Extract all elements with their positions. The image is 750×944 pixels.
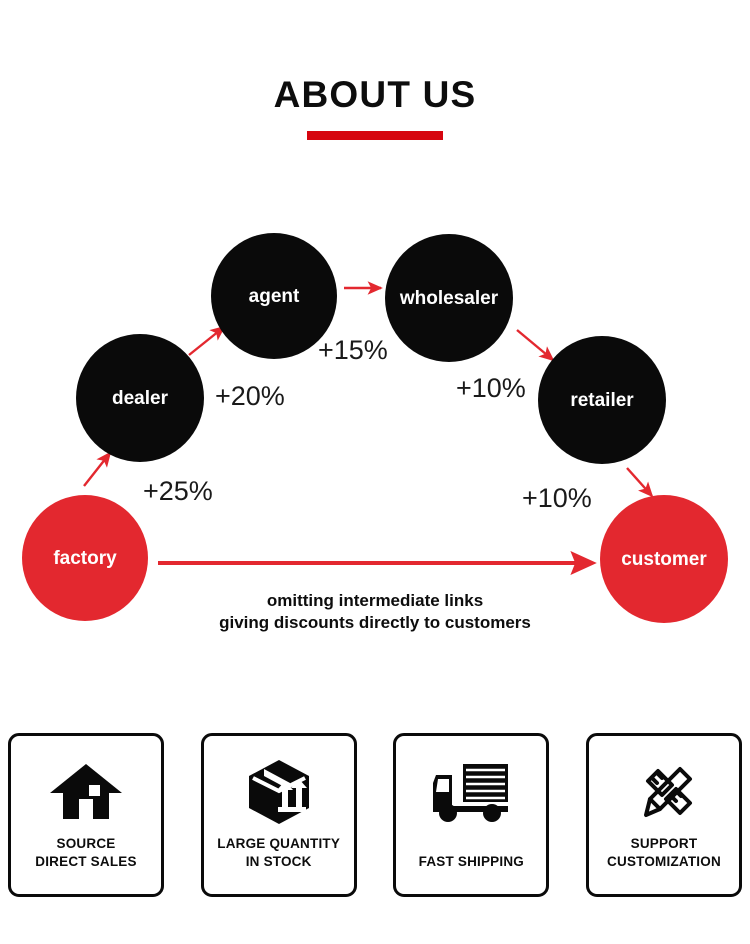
caption-line-2: giving discounts directly to customers (0, 612, 750, 634)
node-dealer-label: dealer (112, 389, 168, 408)
node-wholesaler-label: wholesaler (400, 289, 498, 308)
pencil-ruler-icon (628, 756, 700, 828)
node-factory-label: factory (53, 549, 116, 568)
feature-label-support-customization: SUPPORT CUSTOMIZATION (589, 835, 739, 871)
markup-factory-dealer: +25% (143, 478, 213, 505)
feature-card-source-direct-sales[interactable]: SOURCE DIRECT SALES (8, 733, 164, 897)
feature-cards: SOURCE DIRECT SALES LARGE QUANTITY IN ST… (0, 733, 750, 899)
feature-label-fast-shipping: FAST SHIPPING (396, 853, 546, 871)
feature-card-support-customization[interactable]: SUPPORT CUSTOMIZATION (586, 733, 742, 897)
node-dealer[interactable]: dealer (76, 334, 204, 462)
node-agent-label: agent (249, 287, 300, 306)
node-retailer-label: retailer (570, 391, 633, 410)
node-retailer[interactable]: retailer (538, 336, 666, 464)
feature-line-1: SOURCE (11, 835, 161, 853)
feature-card-large-quantity[interactable]: LARGE QUANTITY IN STOCK (201, 733, 357, 897)
feature-line-1: SUPPORT (589, 835, 739, 853)
title-underline (307, 131, 443, 140)
arrow-wholesaler-retailer (517, 330, 553, 360)
diagram-caption: omitting intermediate links giving disco… (0, 590, 750, 635)
feature-label-source-direct-sales: SOURCE DIRECT SALES (11, 835, 161, 871)
feature-line-2: CUSTOMIZATION (589, 853, 739, 871)
supply-chain-diagram: factory dealer agent wholesaler retailer… (0, 170, 750, 670)
feature-line-1: FAST SHIPPING (396, 853, 546, 871)
feature-line-2: IN STOCK (204, 853, 354, 871)
house-icon (49, 756, 123, 828)
node-agent[interactable]: agent (211, 233, 337, 359)
markup-dealer-agent: +20% (215, 383, 285, 410)
markup-wholesaler-retailer: +10% (456, 375, 526, 402)
feature-card-fast-shipping[interactable]: FAST SHIPPING (393, 733, 549, 897)
arrow-factory-dealer (84, 453, 110, 486)
page-title: ABOUT US (0, 76, 750, 113)
arrow-dealer-agent (189, 327, 224, 355)
feature-line-2: DIRECT SALES (11, 853, 161, 871)
caption-line-1: omitting intermediate links (0, 590, 750, 612)
markup-agent-wholesaler: +15% (318, 337, 388, 364)
about-us-page: ABOUT US (0, 0, 750, 944)
truck-icon (430, 756, 512, 828)
feature-label-large-quantity: LARGE QUANTITY IN STOCK (204, 835, 354, 871)
arrow-retailer-customer (627, 468, 652, 496)
markup-retailer-customer: +10% (522, 485, 592, 512)
box-icon (244, 756, 314, 828)
node-customer-label: customer (621, 550, 707, 569)
feature-line-1: LARGE QUANTITY (204, 835, 354, 853)
node-wholesaler[interactable]: wholesaler (385, 234, 513, 362)
header: ABOUT US (0, 0, 750, 170)
